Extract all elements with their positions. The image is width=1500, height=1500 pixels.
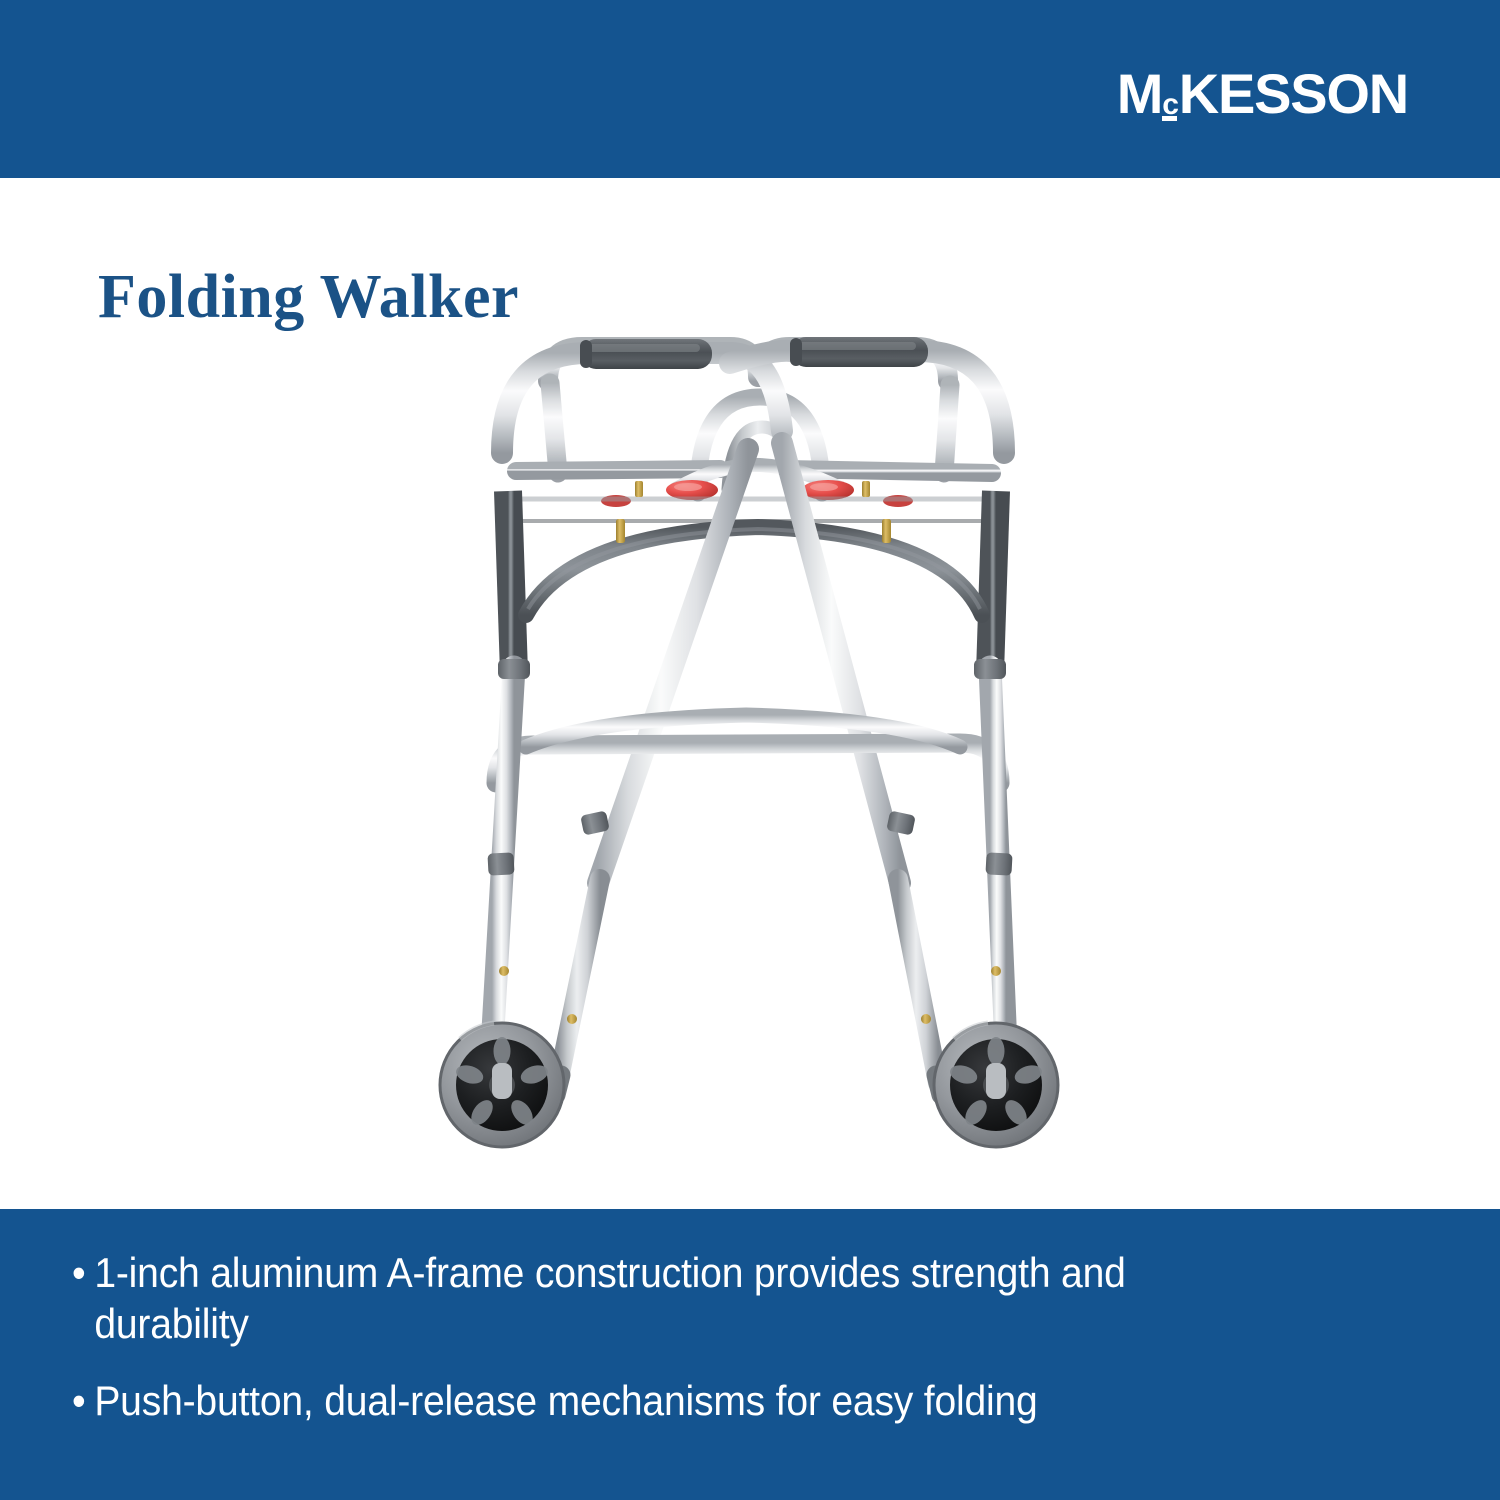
bullet-icon: •	[72, 1375, 85, 1426]
product-info-page: McKESSON Folding Walker	[0, 0, 1500, 1500]
main-crossbar	[506, 499, 996, 521]
post-collar-right	[974, 659, 1006, 679]
right-handgrip	[790, 337, 928, 367]
brass-knob-left	[616, 519, 625, 543]
gray-side-post-left	[508, 491, 514, 673]
logo-letter-m: M	[1117, 66, 1162, 122]
logo-letters-kesson: KESSON	[1179, 66, 1408, 122]
lower-crossbar	[496, 715, 1000, 835]
feature-text: 1-inch aluminum A-frame construction pro…	[94, 1249, 1125, 1347]
logo-superscript-c: c	[1162, 66, 1178, 122]
front-leg-right	[985, 667, 1012, 1047]
leg-collar-left	[487, 852, 514, 875]
content-area: Folding Walker	[0, 178, 1500, 1209]
brass-knob-right	[882, 519, 891, 543]
page-title: Folding Walker	[98, 262, 519, 333]
list-item: • 1-inch aluminum A-frame construction p…	[72, 1247, 1216, 1349]
gray-arch-brace	[526, 527, 982, 615]
front-leg-left	[487, 667, 514, 1047]
feature-list: • 1-inch aluminum A-frame construction p…	[72, 1247, 1302, 1453]
header-band: McKESSON	[0, 0, 1500, 178]
bullet-icon: •	[72, 1247, 85, 1298]
mckesson-logo: McKESSON	[1117, 66, 1408, 122]
footer-band: • 1-inch aluminum A-frame construction p…	[0, 1209, 1500, 1500]
list-item: • Push-button, dual-release mechanisms f…	[72, 1375, 1216, 1426]
folding-walker-photo	[430, 323, 1070, 1193]
post-collar-left	[498, 659, 530, 679]
brass-knob-upper-right	[862, 481, 870, 497]
gray-side-post-right	[990, 491, 996, 673]
wheel-axle-right	[986, 1063, 1006, 1099]
wheel-axle-left	[492, 1063, 512, 1099]
leg-pin-left	[499, 966, 509, 976]
left-handgrip	[580, 339, 712, 369]
leg-collar-right	[985, 852, 1012, 875]
logo-c-underline	[1162, 116, 1177, 121]
brass-knob-upper-left	[635, 481, 643, 497]
leg-pin-right	[991, 966, 1001, 976]
feature-text: Push-button, dual-release mechanisms for…	[94, 1377, 1037, 1424]
